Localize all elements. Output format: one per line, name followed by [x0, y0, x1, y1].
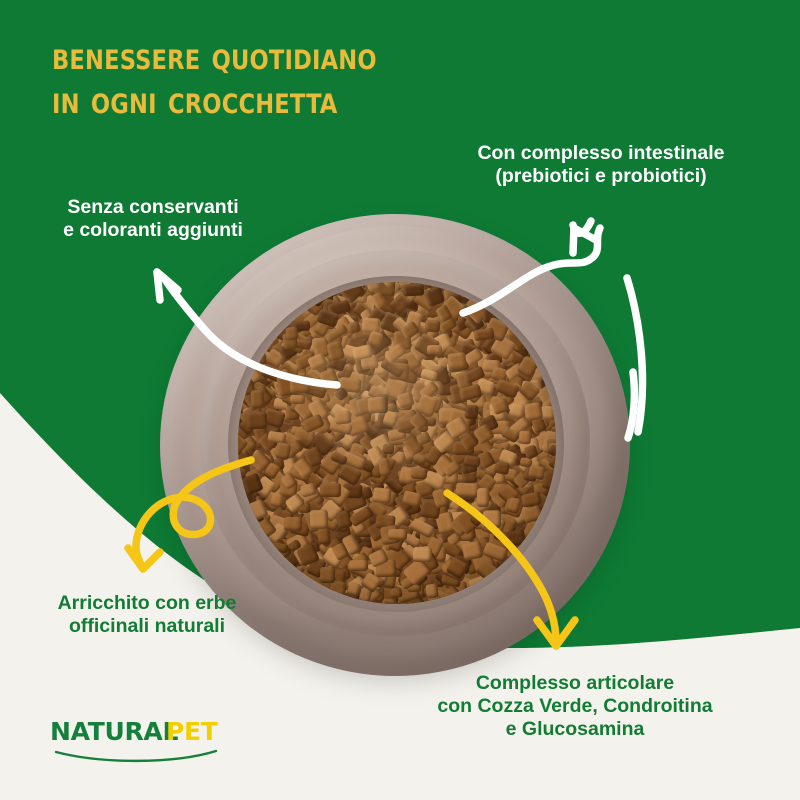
kibble-pile — [238, 282, 556, 604]
headline-line-2: in ogni crocchetta — [52, 78, 452, 122]
callout-herbs-line-1: Arricchito con erbe — [22, 592, 272, 615]
callout-joint-complex-line-1: Complesso articolare — [410, 672, 740, 695]
callout-joint-complex-line-3: e Glucosamina — [410, 718, 740, 741]
kibble-texture — [238, 282, 556, 604]
callout-gut-complex-line-2: (prebiotici e probiotici) — [462, 165, 740, 188]
brand-logo: NATURAL PET — [50, 712, 250, 764]
callout-joint-complex-line-2: con Cozza Verde, Condroitina — [410, 695, 740, 718]
headline-line-1: Benessere quotidiano — [52, 34, 452, 78]
callout-joint-complex: Complesso articolare con Cozza Verde, Co… — [410, 672, 740, 741]
logo-text-natural: NATURAL — [50, 717, 178, 746]
callout-no-preservatives-line-1: Senza conservanti — [28, 196, 278, 219]
callout-no-preservatives-line-2: e coloranti aggiunti — [28, 219, 278, 242]
poster-canvas: .aw{fill:none;stroke:#FFFFFF;stroke-widt… — [0, 0, 800, 800]
logo-text-pet: PET — [166, 717, 218, 746]
callout-gut-complex-line-1: Con complesso intestinale — [462, 142, 740, 165]
logo-swoosh-icon — [56, 751, 216, 761]
callout-herbs: Arricchito con erbe officinali naturali — [22, 592, 272, 638]
page-title: Benessere quotidiano in ogni crocchetta — [52, 34, 482, 122]
callout-no-preservatives: Senza conservanti e coloranti aggiunti — [28, 196, 278, 242]
callout-gut-complex: Con complesso intestinale (prebiotici e … — [462, 142, 740, 188]
callout-herbs-line-2: officinali naturali — [22, 615, 272, 638]
